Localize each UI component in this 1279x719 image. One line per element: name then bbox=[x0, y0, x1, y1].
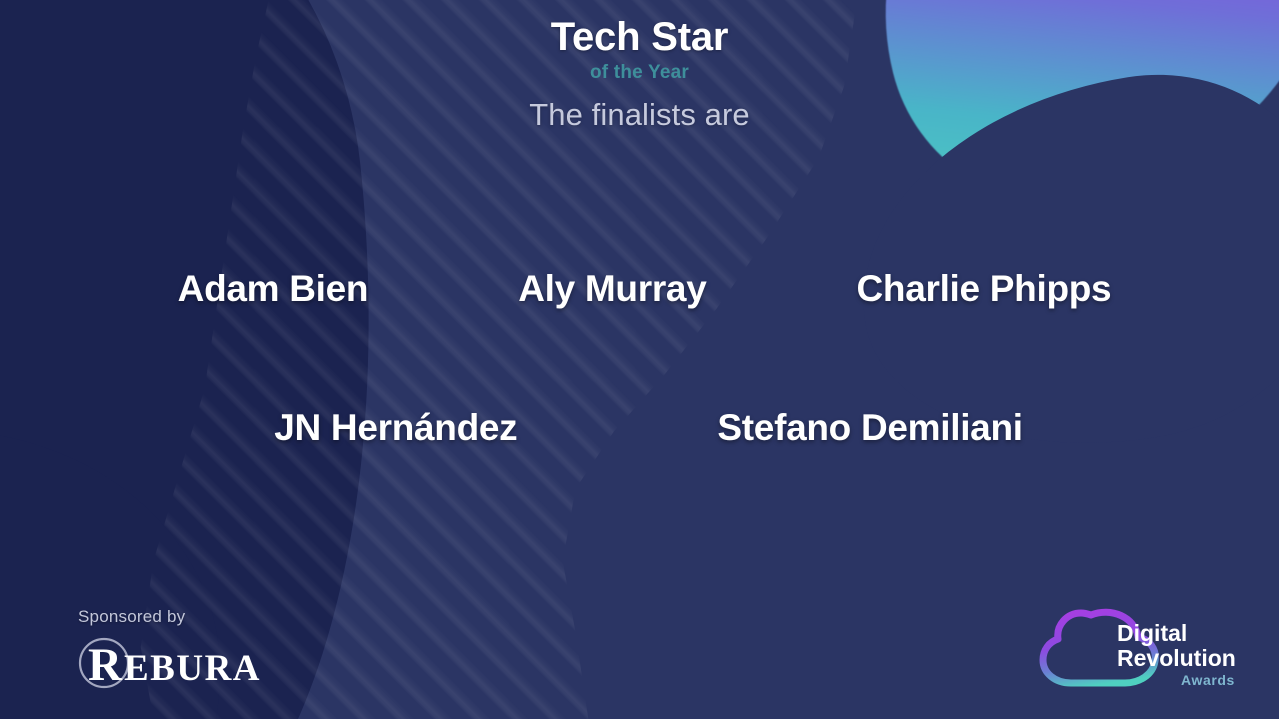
sponsor-block: Sponsored by R EBURA bbox=[78, 607, 284, 691]
rebura-logo: R EBURA bbox=[78, 635, 284, 691]
finalist-name: Aly Murray bbox=[518, 268, 706, 310]
award-title: Tech Star bbox=[0, 16, 1279, 59]
rebura-initial-letter: R bbox=[88, 639, 123, 691]
awards-logo-line-three: Awards bbox=[1181, 672, 1235, 688]
awards-logo-mark: Digital Revolution Awards bbox=[1031, 603, 1243, 707]
awards-slide: Tech Star of the Year The finalists are … bbox=[0, 0, 1279, 719]
digital-revolution-awards-logo: Digital Revolution Awards bbox=[1031, 603, 1243, 707]
awards-logo-line-one: Digital bbox=[1117, 620, 1187, 646]
sponsored-by-label: Sponsored by bbox=[78, 607, 284, 627]
finalist-name: Charlie Phipps bbox=[856, 268, 1111, 310]
finalists-row-one: Adam Bien Aly Murray Charlie Phipps bbox=[0, 268, 1279, 310]
finalist-name: JN Hernández bbox=[274, 407, 517, 449]
rebura-logo-mark: R EBURA bbox=[78, 635, 284, 691]
finalist-name: Stefano Demiliani bbox=[717, 407, 1022, 449]
awards-logo-line-two: Revolution bbox=[1117, 645, 1236, 671]
finalist-name: Adam Bien bbox=[178, 268, 369, 310]
finalists-list: Adam Bien Aly Murray Charlie Phipps JN H… bbox=[0, 268, 1279, 449]
slide-header: Tech Star of the Year The finalists are bbox=[0, 16, 1279, 133]
rebura-wordmark: EBURA bbox=[124, 648, 261, 689]
finalists-row-two: JN Hernández Stefano Demiliani bbox=[0, 407, 1279, 449]
award-subtitle: of the Year bbox=[0, 62, 1279, 84]
finalists-label: The finalists are bbox=[0, 97, 1279, 133]
